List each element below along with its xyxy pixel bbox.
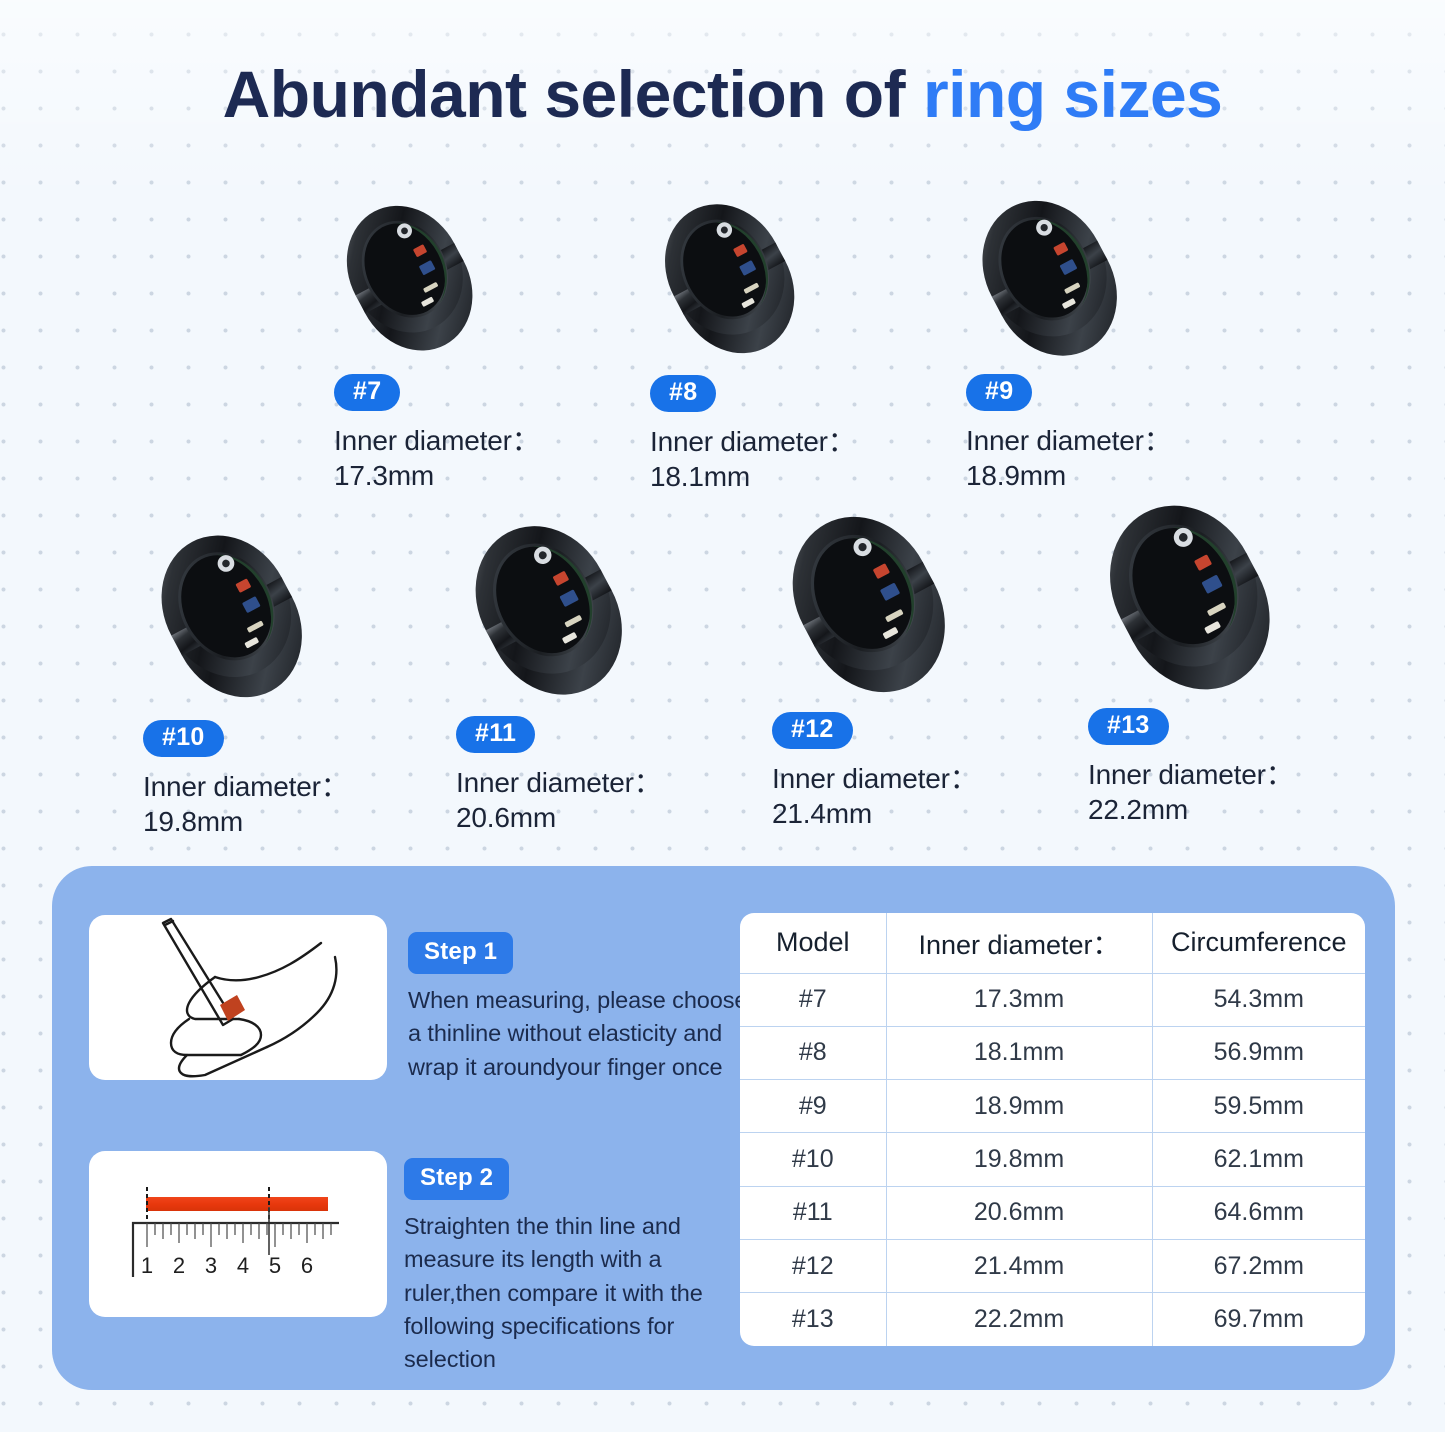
ring-diameter-13: 22.2mm [1088, 793, 1398, 828]
cell-model: #8 [740, 1026, 886, 1079]
ring-diameter-7: 17.3mm [334, 459, 634, 494]
cell-circumference: 69.7mm [1152, 1293, 1365, 1346]
ring-diameter-10: 19.8mm [143, 805, 443, 840]
step-1-block: Step 1 When measuring, please choose a t… [408, 932, 748, 1084]
ring-card-9: #9 Inner diameter： 18.9mm [966, 186, 1266, 493]
page-title: Abundant selection of ring sizes [0, 56, 1445, 132]
ring-card-7: #7 Inner diameter： 17.3mm [334, 192, 634, 493]
cell-model: #9 [740, 1080, 886, 1133]
smart-ring-icon [143, 520, 319, 710]
ring-spec-label-13: Inner diameter： [1088, 759, 1294, 790]
ring-spec-label-12: Inner diameter： [772, 763, 978, 794]
cell-model: #10 [740, 1133, 886, 1186]
ring-badge-11: #11 [456, 716, 535, 753]
smart-ring-icon [966, 186, 1132, 368]
smart-ring-icon [772, 500, 964, 706]
ring-spec-label-7: Inner diameter： [334, 425, 540, 456]
ring-badge-9: #9 [966, 374, 1032, 411]
table-header-row: Model Inner diameter： Circumference [740, 913, 1365, 973]
ring-diameter-11: 20.6mm [456, 801, 756, 836]
cell-model: #12 [740, 1239, 886, 1292]
ring-spec-13: Inner diameter： 22.2mm [1088, 758, 1398, 827]
ring-spec-label-8: Inner diameter： [650, 426, 856, 457]
ring-spec-7: Inner diameter： 17.3mm [334, 424, 634, 493]
ring-badge-13: #13 [1088, 708, 1169, 745]
cell-diameter: 18.1mm [886, 1026, 1152, 1079]
ring-spec-12: Inner diameter： 21.4mm [772, 762, 1072, 831]
table-row: #12 21.4mm 67.2mm [740, 1239, 1365, 1292]
ring-badge-8: #8 [650, 375, 716, 412]
cell-diameter: 19.8mm [886, 1133, 1152, 1186]
step-2-badge: Step 2 [404, 1158, 509, 1200]
table-header-circumference: Circumference [1152, 913, 1365, 973]
smart-ring-icon [456, 510, 640, 708]
ruler-tick-1: 1 [141, 1253, 153, 1278]
ring-spec-8: Inner diameter： 18.1mm [650, 425, 950, 494]
ring-spec-label-10: Inner diameter： [143, 771, 349, 802]
page-title-part2: ring sizes [923, 57, 1222, 131]
cell-circumference: 56.9mm [1152, 1026, 1365, 1079]
table-row: #10 19.8mm 62.1mm [740, 1133, 1365, 1186]
ring-badge-10: #10 [143, 720, 224, 757]
ruler-tick-5: 5 [269, 1253, 281, 1278]
ring-card-12: #12 Inner diameter： 21.4mm [772, 500, 1072, 831]
step-2-text: Straighten the thin line and measure its… [404, 1210, 744, 1377]
ring-diameter-8: 18.1mm [650, 460, 950, 495]
cell-model: #11 [740, 1186, 886, 1239]
table-row: #8 18.1mm 56.9mm [740, 1026, 1365, 1079]
ring-card-8: #8 Inner diameter： 18.1mm [650, 190, 950, 494]
page-title-part1: Abundant selection of [223, 57, 923, 131]
ruler-illustration-card: 1 2 3 4 5 6 [89, 1151, 387, 1317]
cell-diameter: 20.6mm [886, 1186, 1152, 1239]
cell-circumference: 67.2mm [1152, 1239, 1365, 1292]
step-2-block: Step 2 Straighten the thin line and meas… [404, 1158, 744, 1377]
ring-spec-9: Inner diameter： 18.9mm [966, 424, 1266, 493]
ring-badge-7: #7 [334, 374, 400, 411]
cell-diameter: 18.9mm [886, 1080, 1152, 1133]
ruler-tick-3: 3 [205, 1253, 217, 1278]
ring-card-13: #13 Inner diameter： 22.2mm [1088, 488, 1398, 827]
ring-image-8 [650, 190, 950, 365]
ring-image-10 [143, 520, 443, 710]
table-header-inner-diameter: Inner diameter： [886, 913, 1152, 973]
ring-size-guide-page: Abundant selection of ring sizes [0, 0, 1445, 1432]
ring-badge-12: #12 [772, 712, 853, 749]
cell-diameter: 21.4mm [886, 1239, 1152, 1292]
table-header-model: Model [740, 913, 886, 973]
cell-circumference: 62.1mm [1152, 1133, 1365, 1186]
cell-diameter: 17.3mm [886, 973, 1152, 1026]
ruler-with-string-icon: 1 2 3 4 5 6 [89, 1151, 387, 1317]
smart-ring-icon [334, 192, 484, 362]
cell-circumference: 59.5mm [1152, 1080, 1365, 1133]
smart-ring-icon [1088, 488, 1290, 704]
ruler-tick-6: 6 [301, 1253, 313, 1278]
ring-spec-label-11: Inner diameter： [456, 767, 662, 798]
hand-with-string-icon [89, 915, 387, 1080]
ring-spec-10: Inner diameter： 19.8mm [143, 770, 443, 839]
ruler-tick-4: 4 [237, 1253, 249, 1278]
ring-image-12 [772, 500, 1072, 706]
ring-spec-label-9: Inner diameter： [966, 425, 1172, 456]
cell-circumference: 64.6mm [1152, 1186, 1365, 1239]
ruler-tick-2: 2 [173, 1253, 185, 1278]
step-1-text: When measuring, please choose a thinline… [408, 984, 748, 1084]
ring-size-table: Model Inner diameter： Circumference #7 1… [740, 913, 1365, 1346]
ring-image-11 [456, 510, 756, 708]
cell-model: #13 [740, 1293, 886, 1346]
ring-spec-11: Inner diameter： 20.6mm [456, 766, 756, 835]
ring-diameter-12: 21.4mm [772, 797, 1072, 832]
cell-circumference: 54.3mm [1152, 973, 1365, 1026]
table-row: #7 17.3mm 54.3mm [740, 973, 1365, 1026]
ring-card-11: #11 Inner diameter： 20.6mm [456, 510, 756, 835]
smart-ring-icon [650, 190, 808, 365]
measurement-guide-panel: 1 2 3 4 5 6 Step 1 When measuring, pleas… [52, 866, 1395, 1390]
table-row: #13 22.2mm 69.7mm [740, 1293, 1365, 1346]
ring-card-10: #10 Inner diameter： 19.8mm [143, 520, 443, 839]
ring-image-13 [1088, 488, 1398, 704]
table-row: #9 18.9mm 59.5mm [740, 1080, 1365, 1133]
cell-diameter: 22.2mm [886, 1293, 1152, 1346]
table-row: #11 20.6mm 64.6mm [740, 1186, 1365, 1239]
cell-model: #7 [740, 973, 886, 1026]
ring-image-9 [966, 186, 1266, 368]
ring-image-7 [334, 192, 634, 362]
hand-illustration-card [89, 915, 387, 1080]
step-1-badge: Step 1 [408, 932, 513, 974]
